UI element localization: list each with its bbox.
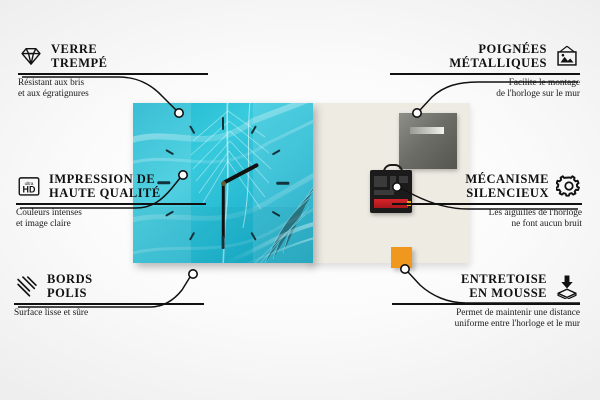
feature-divider [390,73,580,75]
clock-tick [276,182,289,185]
clock-tick [222,117,225,130]
polished-edges-icon [14,273,40,299]
feature-title: VERRE TREMPÉ [51,42,107,70]
feature-description: Les aiguilles de l'horloge ne font aucun… [392,208,582,232]
feature-heading: VERRE TREMPÉ [18,42,208,70]
clock-tick [189,232,195,241]
clock-tick [189,125,195,134]
feature-entretoise-en-mousse: ENTRETOISE EN MOUSSE Permet de maintenir… [392,272,580,331]
picture-hanger-icon [554,43,580,69]
feature-description: Surface lisse et sûre [14,308,204,320]
feature-impression-haute-qualite: ultra HD IMPRESSION DE HAUTE QUALITÉ Cou… [16,172,206,231]
feature-title: MÉCANISME SILENCIEUX [465,172,549,200]
mechanism-part [374,176,387,187]
clock-minute-hand [222,183,225,239]
feature-divider [14,303,204,305]
metal-handle-swatch [399,113,457,169]
svg-text:HD: HD [23,185,36,195]
infographic-canvas: VERRE TREMPÉ Résistant aux bris et aux é… [0,0,600,400]
clock-tick [272,211,281,217]
clock-hour-hand [222,163,259,185]
clock-tick [251,125,257,134]
metal-handle-strip [410,127,444,134]
clock-center-hub [221,181,226,186]
gear-icon [556,173,582,199]
feature-bords-polis: BORDS POLIS Surface lisse et sûre [14,272,204,319]
clock-tick [222,236,225,249]
feature-divider [16,203,206,205]
foam-spacer-icon [554,273,580,299]
feature-title: BORDS POLIS [47,272,93,300]
clock-tick [272,149,281,155]
feature-poignees-metalliques: POIGNÉES MÉTALLIQUES Facilite le montage… [390,42,580,101]
feature-title: IMPRESSION DE HAUTE QUALITÉ [49,172,161,200]
feature-verre-trempe: VERRE TREMPÉ Résistant aux bris et aux é… [18,42,208,101]
ultra-hd-icon: ultra HD [16,173,42,199]
mechanism-part [374,190,394,195]
foam-spacer-swatch [391,247,412,268]
feature-title: ENTRETOISE EN MOUSSE [461,272,547,300]
feature-description: Résistant aux bris et aux égratignures [18,78,208,102]
feature-description: Facilite le montage de l'horloge sur le … [390,78,580,102]
feature-heading: BORDS POLIS [14,272,204,300]
diamond-icon [18,43,44,69]
feature-heading: ENTRETOISE EN MOUSSE [392,272,580,300]
feature-heading: POIGNÉES MÉTALLIQUES [390,42,580,70]
feature-mecanisme-silencieux: MÉCANISME SILENCIEUX Les aiguilles de l'… [392,172,582,231]
feature-description: Permet de maintenir une distance uniform… [392,308,580,332]
feature-divider [392,203,582,205]
feature-heading: ultra HD IMPRESSION DE HAUTE QUALITÉ [16,172,206,200]
feature-title: POIGNÉES MÉTALLIQUES [449,42,547,70]
feature-divider [392,303,580,305]
clock-tick [165,149,174,155]
feature-heading: MÉCANISME SILENCIEUX [392,172,582,200]
clock-tick [251,232,257,241]
feature-divider [18,73,208,75]
feature-description: Couleurs intenses et image claire [16,208,206,232]
